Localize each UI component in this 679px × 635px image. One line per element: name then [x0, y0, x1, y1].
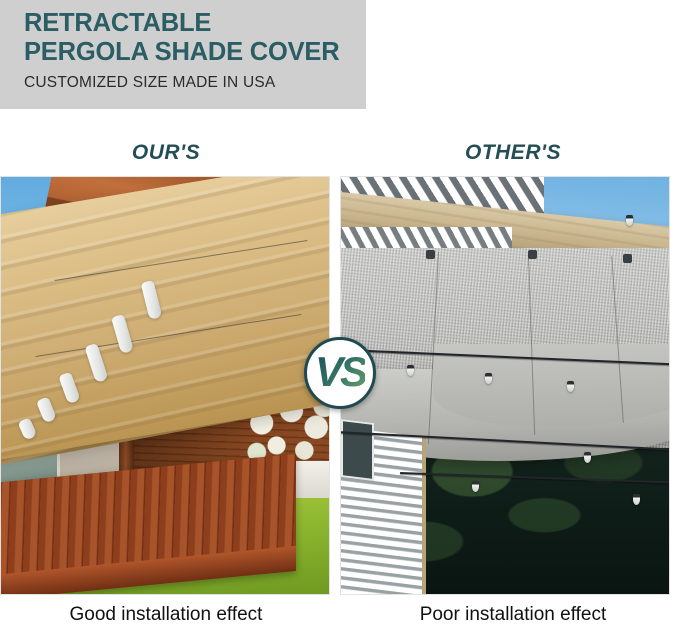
vs-badge-label: VS — [315, 351, 365, 393]
column-label-others: OTHER'S — [345, 141, 679, 171]
vs-badge: VS — [304, 337, 376, 409]
string-light-bulb — [633, 494, 640, 505]
page-subtitle: CUSTOMIZED SIZE MADE IN USA — [24, 74, 275, 92]
dark-window — [341, 419, 374, 481]
photo-ours-good-installation — [0, 176, 330, 595]
scene-good-install — [1, 177, 329, 594]
string-light-bulb — [584, 452, 591, 463]
photo-others-poor-installation — [340, 176, 670, 595]
page-title: RETRACTABLE PERGOLA SHADE COVER — [24, 9, 364, 67]
caption-poor-installation: Poor installation effect — [345, 604, 679, 626]
string-light-bulb — [407, 365, 414, 376]
mesh-clip — [528, 250, 537, 259]
mesh-clip — [426, 250, 435, 259]
caption-good-installation: Good installation effect — [0, 604, 334, 626]
page-title-line-2: PERGOLA SHADE COVER — [24, 38, 364, 67]
header-banner: RETRACTABLE PERGOLA SHADE COVER CUSTOMIZ… — [0, 0, 366, 109]
scene-poor-install — [341, 177, 669, 594]
mesh-clip — [623, 254, 632, 263]
column-label-ours: OUR'S — [0, 141, 334, 171]
page-title-line-1: RETRACTABLE — [24, 9, 211, 37]
product-comparison-image: RETRACTABLE PERGOLA SHADE COVER CUSTOMIZ… — [0, 0, 679, 635]
